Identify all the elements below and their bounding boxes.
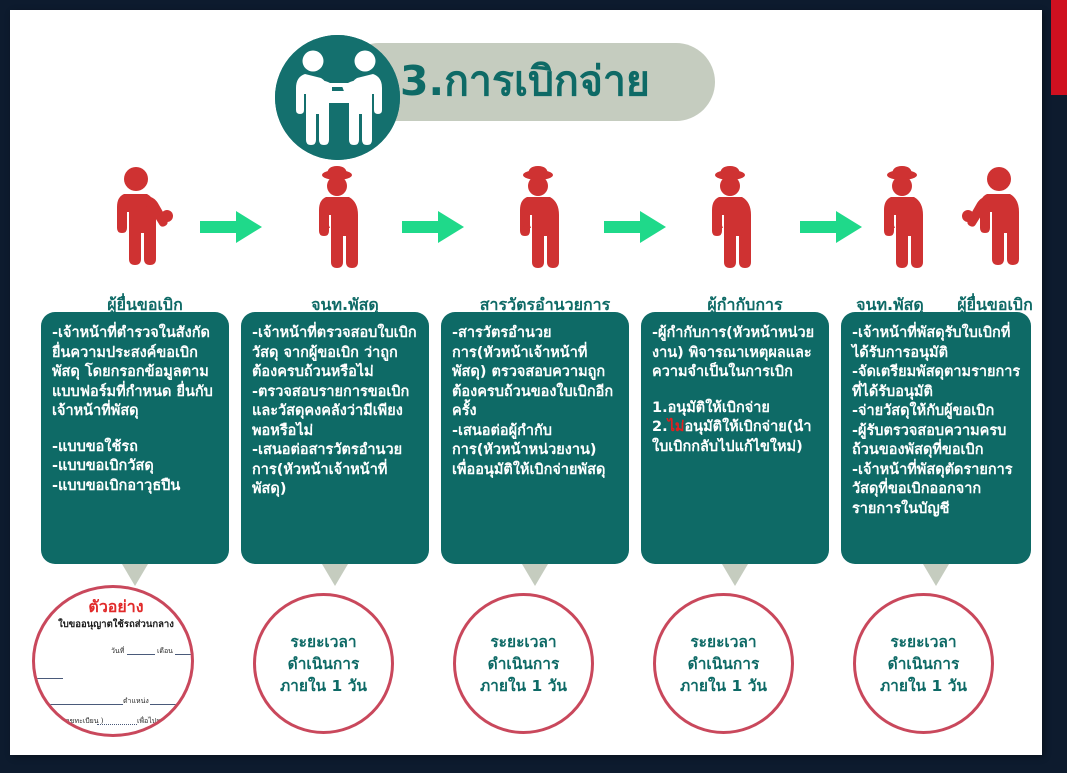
slide-header: 3.การเบิกจ่าย	[265, 35, 715, 130]
form-rule	[127, 654, 155, 655]
duration-line-3: ภายใน 1 วัน	[880, 675, 967, 697]
pointer-triangle	[322, 564, 348, 586]
step-text: -แบบขอใช้รถ	[52, 438, 219, 458]
form-dotted-rule	[97, 724, 137, 725]
form-rule	[175, 654, 194, 655]
duration-circle-4: ระยะเวลา ดำเนินการ ภายใน 1 วัน	[853, 593, 994, 734]
slide-canvas: 3.การเบิกจ่าย	[10, 10, 1042, 755]
duration-circle-2: ระยะเวลา ดำเนินการ ภายใน 1 วัน	[453, 593, 594, 734]
step-text: -สารวัตรอำนวยการ(หัวหน้าเจ้าหน้าที่พัสดุ…	[452, 324, 619, 422]
step-text: -เจ้าหน้าที่ตรวจสอบใบเบิกวัสดุ จากผู้ขอเ…	[252, 324, 419, 383]
step-box-3: -สารวัตรอำนวยการ(หัวหน้าเจ้าหน้าที่พัสดุ…	[441, 312, 629, 564]
step-text: 1.อนุมัติให้เบิกจ่าย	[652, 399, 819, 419]
step-box-4: -ผู้กำกับการ(หัวหน้าหน่วยงาน) พิจารณาเหต…	[641, 312, 829, 564]
duration-line-2: ดำเนินการ	[880, 653, 967, 675]
sample-form-subtitle: ใบขออนุญาตใช้รถส่วนกลาง	[35, 617, 194, 632]
page-title: 3.การเบิกจ่าย	[400, 55, 720, 107]
step-text: -ตรวจสอบรายการขอเบิกและวัสดุคงคลังว่ามีเ…	[252, 383, 419, 442]
police-officer-icon	[508, 165, 578, 280]
step-text: -เสนอต่อสารวัตรอำนวยการ(หัวหน้าเจ้าหน้าท…	[252, 441, 419, 500]
handover-box-icon	[275, 35, 400, 160]
form-field-date-label: วันที่	[111, 646, 124, 657]
person-raised-hand-icon	[955, 165, 1025, 280]
flow-arrow-icon	[402, 210, 464, 244]
form-field-plate-label: (หมายเลขทะเบียน )	[43, 716, 104, 727]
police-officer-icon	[872, 165, 942, 280]
person-raised-hand-icon	[106, 165, 176, 280]
step-text: -จ่ายวัสดุให้กับผู้ขอเบิก	[852, 402, 1021, 422]
police-officer-icon	[700, 165, 770, 280]
form-rule	[32, 704, 123, 705]
form-field-position-label: ตำแหน่ง	[123, 696, 149, 707]
police-officer-icon	[307, 165, 377, 280]
pointer-triangle	[122, 564, 148, 586]
pointer-triangle	[722, 564, 748, 586]
form-field-purpose-label: เพื่อไปราชการ	[137, 716, 181, 727]
step-box-2: -เจ้าหน้าที่ตรวจสอบใบเบิกวัสดุ จากผู้ขอเ…	[241, 312, 429, 564]
form-rule	[150, 704, 194, 705]
step-text: -เจ้าหน้าที่พัสดุรับใบเบิกที่ได้รับการอน…	[852, 324, 1021, 363]
sample-form-circle: ตัวอย่าง ใบขออนุญาตใช้รถส่วนกลาง วันที่ …	[32, 585, 194, 737]
form-field-month-label: เดือน	[157, 646, 173, 657]
form-rule	[32, 678, 63, 679]
duration-line-2: ดำเนินการ	[680, 653, 767, 675]
step-text: -แบบขอเบิกวัสดุ	[52, 457, 219, 477]
step-text: -ผู้รับตรวจสอบความครบถ้วนของพัสดุที่ขอเบ…	[852, 422, 1021, 461]
flow-arrow-icon	[200, 210, 262, 244]
step-box-5: -เจ้าหน้าที่พัสดุรับใบเบิกที่ได้รับการอน…	[841, 312, 1031, 564]
step-text: -แบบขอเบิกอาวุธปืน	[52, 477, 219, 497]
background-top-band	[0, 0, 1051, 10]
duration-line-2: ดำเนินการ	[280, 653, 367, 675]
duration-line-3: ภายใน 1 วัน	[680, 675, 767, 697]
corner-red-accent	[1051, 0, 1067, 95]
step-text: -เจ้าหน้าที่ตำรวจในสังกัดยื่นความประสงค์…	[52, 324, 219, 422]
actor-row	[10, 165, 1042, 280]
step-text: -เสนอต่อผู้กำกับการ(หัวหน้าหน่วยงาน) เพื…	[452, 422, 619, 481]
step-text: -จัดเตรียมพัสดุตามรายการที่ได้รับอนุมัติ	[852, 363, 1021, 402]
step-text-negative: 2.ไม่อนุมัติให้เบิกจ่าย(นำใบเบิกกลับไปแก…	[652, 418, 819, 457]
duration-line-1: ระยะเวลา	[480, 631, 567, 653]
slide-root: 3.การเบิกจ่าย	[0, 0, 1067, 773]
pointer-triangle	[923, 564, 949, 586]
flow-arrow-icon	[800, 210, 862, 244]
step-text: -เจ้าหน้าที่พัสดุตัดรายการวัสดุที่ขอเบิก…	[852, 461, 1021, 520]
duration-line-1: ระยะเวลา	[880, 631, 967, 653]
duration-circle-1: ระยะเวลา ดำเนินการ ภายใน 1 วัน	[253, 593, 394, 734]
duration-circle-3: ระยะเวลา ดำเนินการ ภายใน 1 วัน	[653, 593, 794, 734]
duration-line-1: ระยะเวลา	[280, 631, 367, 653]
pointer-triangle	[522, 564, 548, 586]
negative-keyword: ไม่	[668, 419, 685, 435]
duration-line-2: ดำเนินการ	[480, 653, 567, 675]
flow-arrow-icon	[604, 210, 666, 244]
duration-line-3: ภายใน 1 วัน	[280, 675, 367, 697]
step-box-1: -เจ้าหน้าที่ตำรวจในสังกัดยื่นความประสงค์…	[41, 312, 229, 564]
step-text: -ผู้กำกับการ(หัวหน้าหน่วยงาน) พิจารณาเหต…	[652, 324, 819, 383]
duration-line-3: ภายใน 1 วัน	[480, 675, 567, 697]
duration-line-1: ระยะเวลา	[680, 631, 767, 653]
